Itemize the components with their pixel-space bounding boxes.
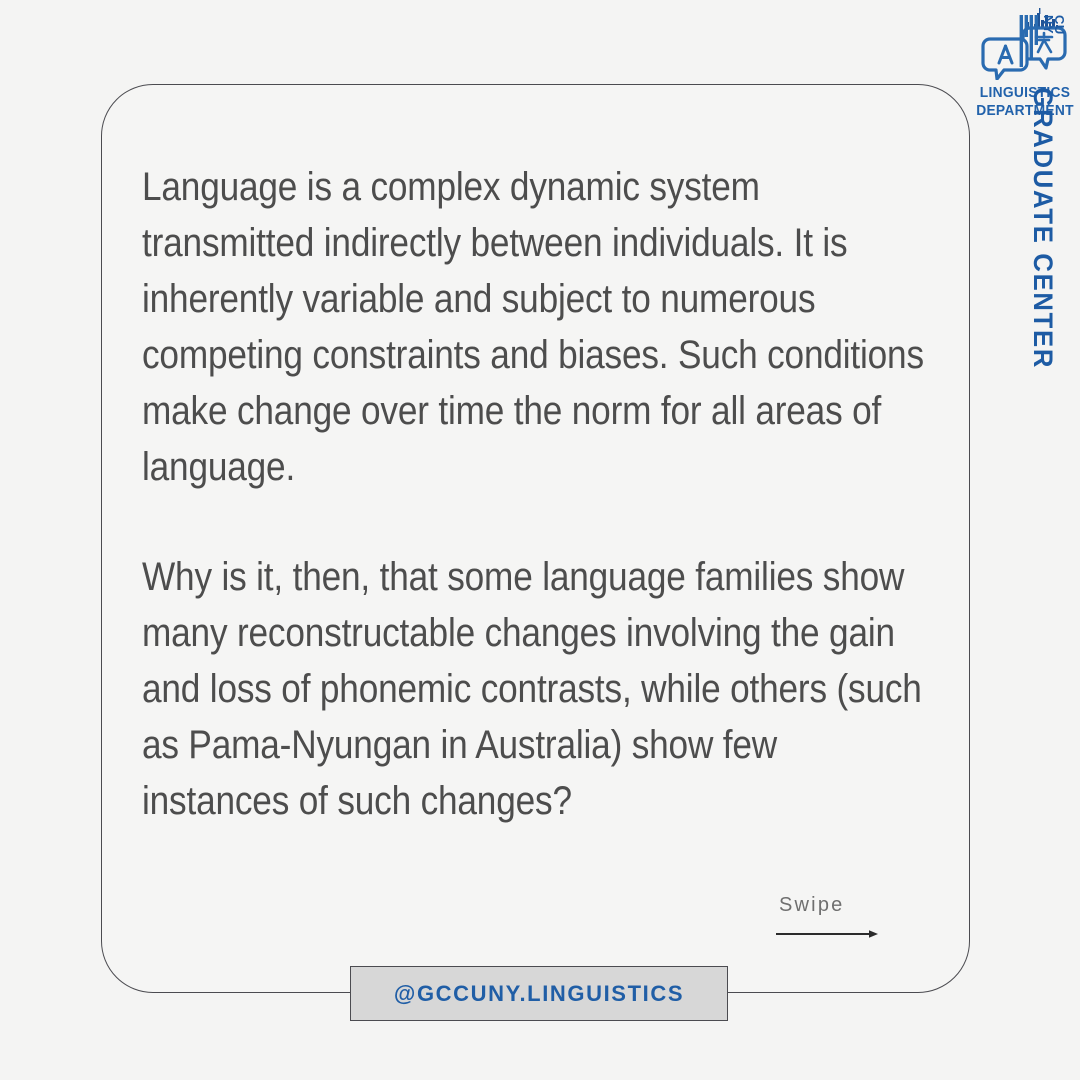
slide-canvas: Language is a complex dynamic system tra…	[0, 0, 1080, 1080]
handle-label: @GCCUNY.LINGUISTICS	[394, 981, 684, 1007]
branding-rail: LINGUISTICS DEPARTMENT CU NY GRADUATE CE…	[970, 0, 1080, 470]
swipe-label: Swipe	[775, 894, 925, 917]
graduate-center-lockup: CU NY GRADUATE CENTER	[1013, 11, 1073, 321]
svg-text:NY: NY	[1041, 15, 1056, 34]
content-card: Language is a complex dynamic system tra…	[101, 84, 970, 993]
card-body: Language is a complex dynamic system tra…	[142, 159, 929, 829]
swipe-indicator[interactable]: Swipe	[775, 894, 925, 940]
body-paragraph-2: Why is it, then, that some language fami…	[142, 549, 925, 829]
graduate-center-text: GRADUATE CENTER	[1028, 87, 1059, 369]
handle-badge[interactable]: @GCCUNY.LINGUISTICS	[350, 966, 728, 1021]
arrow-right-icon	[775, 928, 879, 940]
body-paragraph-1: Language is a complex dynamic system tra…	[142, 159, 925, 495]
cuny-bars-icon: CU NY	[1017, 11, 1069, 71]
